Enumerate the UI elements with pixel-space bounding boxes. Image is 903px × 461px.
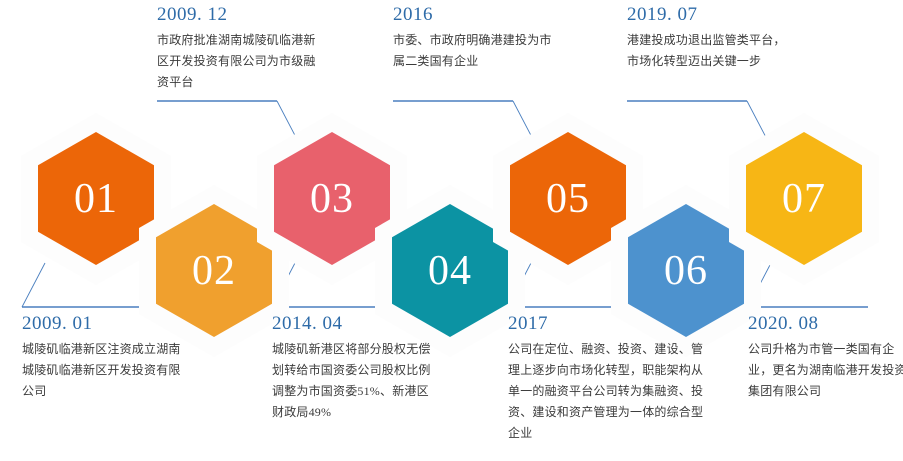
milestone-description-07: 公司升格为市管一类国有企业，更名为湖南临港开发投资集团有限公司 — [748, 339, 903, 402]
milestone-label-05: 2017 公司在定位、融资、投资、建设、管理上逐步向市场化转型，职能架构从单一的… — [508, 313, 704, 444]
milestone-description-06: 港建投成功退出监管类平台，市场化转型迈出关键一步 — [627, 30, 787, 72]
milestone-description-02: 市政府批准湖南城陵矶临港新区开发投资有限公司为市级融资平台 — [157, 30, 317, 93]
milestone-label-02: 2009. 12 市政府批准湖南城陵矶临港新区开发投资有限公司为市级融资平台 — [157, 4, 317, 93]
hexagon-number-05: 05 — [546, 178, 590, 220]
milestone-date-03: 2014. 04 — [272, 313, 432, 335]
milestone-label-04: 2016 市委、市政府明确港建投为市属二类国有企业 — [393, 4, 553, 72]
hexagon-number-02: 02 — [192, 250, 236, 292]
milestone-label-01: 2009. 01 城陵矶临港新区注资成立湖南城陵矶临港新区开发投资有限公司 — [22, 313, 182, 402]
milestone-label-07: 2020. 08 公司升格为市管一类国有企业，更名为湖南临港开发投资集团有限公司 — [748, 313, 903, 402]
milestone-date-04: 2016 — [393, 4, 553, 26]
hexagon-number-03: 03 — [310, 178, 354, 220]
milestone-date-07: 2020. 08 — [748, 313, 903, 335]
milestone-hexagon-07[interactable]: 07 — [729, 113, 879, 285]
timeline-infographic: 01 02 03 04 05 06 07 — [0, 0, 903, 461]
milestone-description-04: 市委、市政府明确港建投为市属二类国有企业 — [393, 30, 553, 72]
milestone-description-01: 城陵矶临港新区注资成立湖南城陵矶临港新区开发投资有限公司 — [22, 339, 182, 402]
milestone-description-05: 公司在定位、融资、投资、建设、管理上逐步向市场化转型，职能架构从单一的融资平台公… — [508, 339, 704, 444]
milestone-date-01: 2009. 01 — [22, 313, 182, 335]
milestone-label-06: 2019. 07 港建投成功退出监管类平台，市场化转型迈出关键一步 — [627, 4, 787, 72]
milestone-date-05: 2017 — [508, 313, 704, 335]
hexagon-number-01: 01 — [74, 178, 118, 220]
hexagon-number-04: 04 — [428, 250, 472, 292]
hexagon-number-06: 06 — [664, 250, 708, 292]
milestone-date-06: 2019. 07 — [627, 4, 787, 26]
hexagon-number-07: 07 — [782, 178, 826, 220]
milestone-label-03: 2014. 04 城陵矶新港区将部分股权无偿划转给市国资委公司股权比例调整为市国… — [272, 313, 432, 423]
milestone-date-02: 2009. 12 — [157, 4, 317, 26]
milestone-description-03: 城陵矶新港区将部分股权无偿划转给市国资委公司股权比例调整为市国资委51%、新港区… — [272, 339, 432, 423]
